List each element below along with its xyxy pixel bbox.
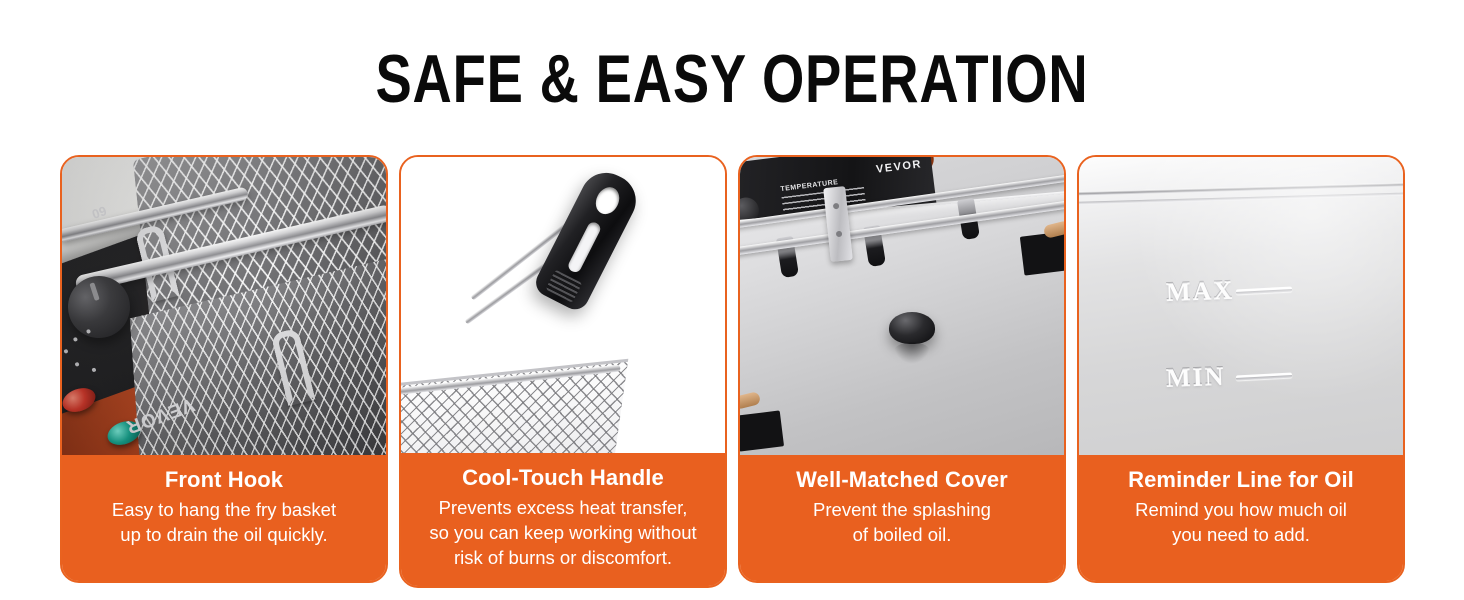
metal-sheen xyxy=(1079,157,1403,455)
photo-vignette xyxy=(62,157,386,455)
well-matched-cover-caption: Well-Matched Cover Prevent the splashing… xyxy=(740,455,1064,581)
card-title: Front Hook xyxy=(74,465,374,495)
cool-touch-handle-photo xyxy=(401,157,725,453)
reminder-line-caption: Reminder Line for Oil Remind you how muc… xyxy=(1079,455,1403,581)
front-hook-caption: Front Hook Easy to hang the fry basket u… xyxy=(62,455,386,581)
page-title: SAFE & EASY OPERATION xyxy=(146,42,1317,116)
handle-vent-slot xyxy=(566,220,602,274)
card-title: Well-Matched Cover xyxy=(752,465,1052,495)
card-body: Prevents excess heat transfer, so you ca… xyxy=(413,495,713,570)
well-matched-cover-photo: TEMPERATURE VEVOR xyxy=(740,157,1064,455)
feature-card-reminder-line-for-oil[interactable]: MAX MIN Reminder Line for Oil Remind you… xyxy=(1077,155,1405,583)
card-body: Easy to hang the fry basket up to drain … xyxy=(74,497,374,547)
card-body: Remind you how much oil you need to add. xyxy=(1091,497,1391,547)
card-body-line: Easy to hang the fry basket xyxy=(74,497,374,522)
card-body-line: so you can keep working without xyxy=(413,520,713,545)
handle-grip-ridges xyxy=(545,269,582,302)
card-body-line: Remind you how much oil xyxy=(1091,497,1391,522)
infographic-page: SAFE & EASY OPERATION 60 VEVOR xyxy=(0,0,1464,600)
front-hook-photo: 60 VEVOR xyxy=(62,157,386,455)
tank-slot-left xyxy=(740,411,784,452)
card-body-line: you need to add. xyxy=(1091,522,1391,547)
card-body-line: Prevent the splashing xyxy=(752,497,1052,522)
card-title: Reminder Line for Oil xyxy=(1091,465,1391,495)
tank-slot-right xyxy=(1020,232,1064,276)
card-title: Cool-Touch Handle xyxy=(413,463,713,493)
card-body-line: up to drain the oil quickly. xyxy=(74,522,374,547)
cool-touch-handle-caption: Cool-Touch Handle Prevents excess heat t… xyxy=(401,453,725,586)
feature-card-cool-touch-handle[interactable]: Cool-Touch Handle Prevents excess heat t… xyxy=(399,155,727,588)
card-body-line: of boiled oil. xyxy=(752,522,1052,547)
feature-card-well-matched-cover[interactable]: TEMPERATURE VEVOR xyxy=(738,155,1066,583)
feature-card-row: 60 VEVOR Front Hook Easy to hang the fry… xyxy=(60,155,1405,583)
card-body: Prevent the splashing of boiled oil. xyxy=(752,497,1052,547)
card-body-line: Prevents excess heat transfer, xyxy=(413,495,713,520)
cover-lift-knob xyxy=(889,312,935,344)
feature-card-front-hook[interactable]: 60 VEVOR Front Hook Easy to hang the fry… xyxy=(60,155,388,583)
handle-hanging-hole xyxy=(591,183,623,218)
reminder-line-photo: MAX MIN xyxy=(1079,157,1403,455)
card-body-line: risk of burns or discomfort. xyxy=(413,545,713,570)
